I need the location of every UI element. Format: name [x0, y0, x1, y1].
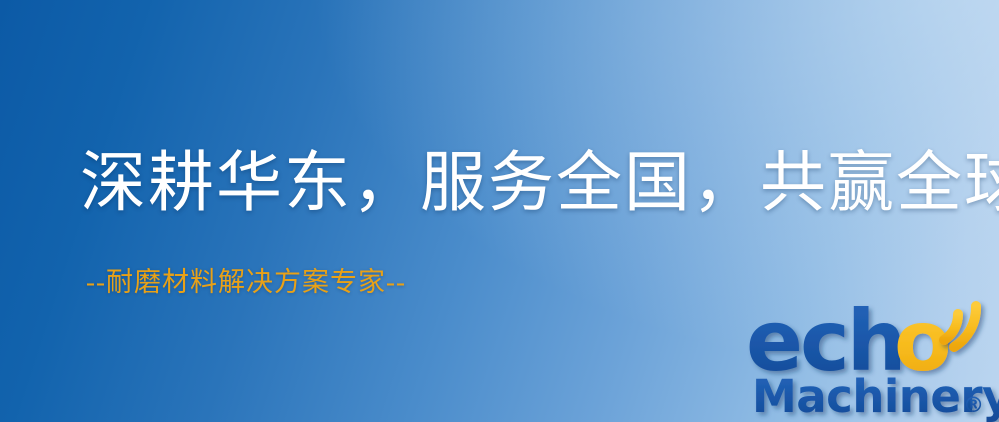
svg-text:®: ® [963, 393, 984, 417]
echo-machinery-logo[interactable]: ech o Machinery ® [744, 296, 996, 422]
logo-tagline: Machinery [752, 370, 999, 422]
svg-text:Machinery: Machinery [752, 370, 999, 422]
echo-wave-icon [944, 306, 976, 347]
banner-headline: 深耕华东，服务全国，共赢全球 [80, 148, 999, 219]
banner-subtitle: --耐磨材料解决方案专家-- [86, 266, 406, 298]
promo-banner: 深耕华东，服务全国，共赢全球 --耐磨材料解决方案专家-- [0, 0, 999, 422]
registered-mark-icon: ® [963, 393, 984, 417]
